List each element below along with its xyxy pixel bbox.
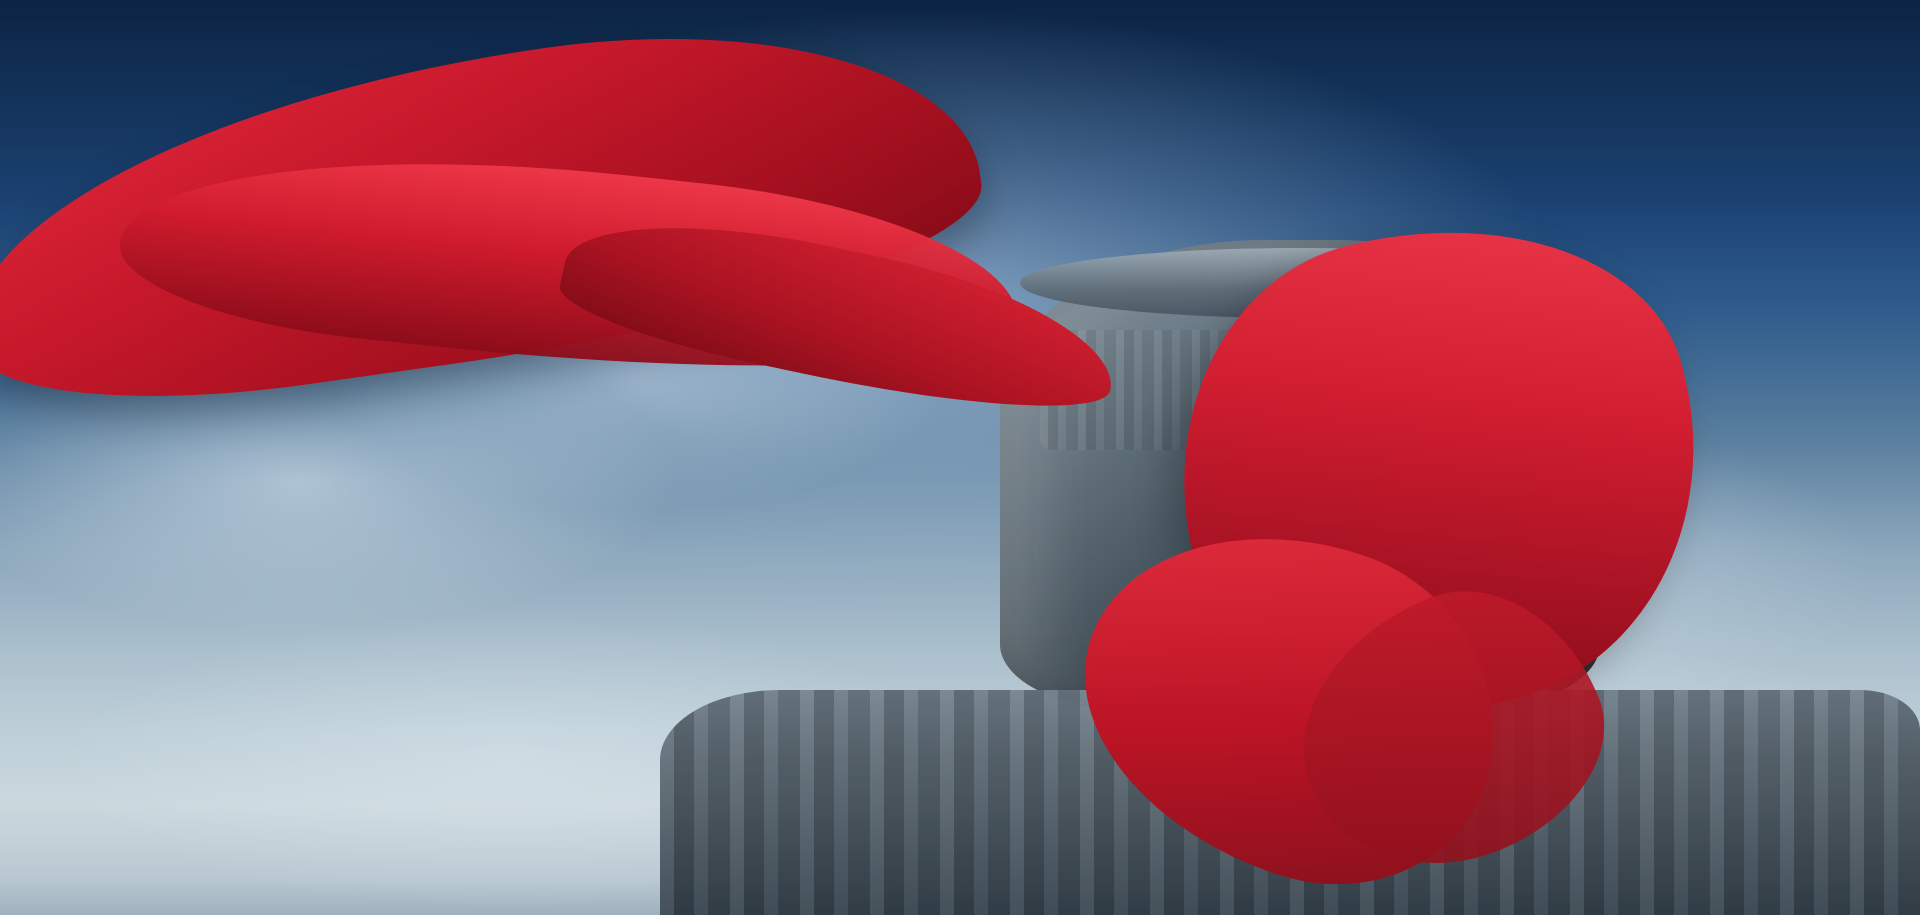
awards-gallery [0,0,1920,915]
